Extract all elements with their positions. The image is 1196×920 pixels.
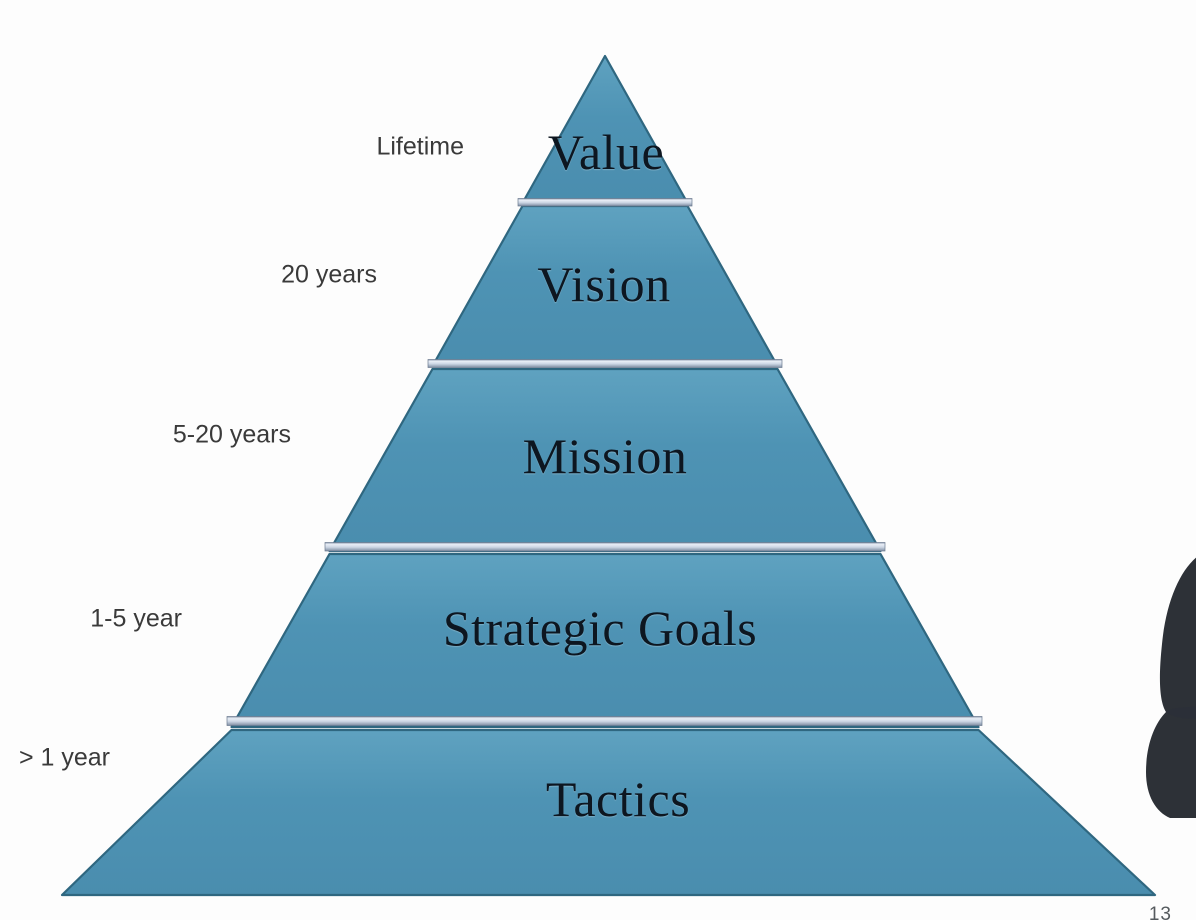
pyramid-label-strategic-goals: Strategic Goals	[443, 599, 757, 657]
timeframe-label-tactics: > 1 year	[19, 744, 110, 773]
divider-4	[227, 717, 982, 726]
timeframe-label-value: Lifetime	[376, 133, 464, 162]
divider-1	[518, 199, 692, 207]
slide-canvas: Value Vision Mission Strategic Goals Tac…	[0, 0, 1196, 920]
timeframe-label-strategic-goals: 1-5 year	[90, 605, 182, 634]
divider-3	[325, 543, 885, 552]
pyramid-label-vision: Vision	[537, 255, 670, 313]
timeframe-label-mission: 5-20 years	[173, 421, 291, 450]
pyramid-label-tactics: Tactics	[546, 770, 690, 828]
divider-2	[428, 360, 782, 368]
timeframe-label-vision: 20 years	[281, 261, 377, 290]
pyramid-label-mission: Mission	[523, 427, 688, 485]
slide-number: 13	[1149, 904, 1172, 920]
pyramid-label-value: Value	[548, 123, 664, 181]
